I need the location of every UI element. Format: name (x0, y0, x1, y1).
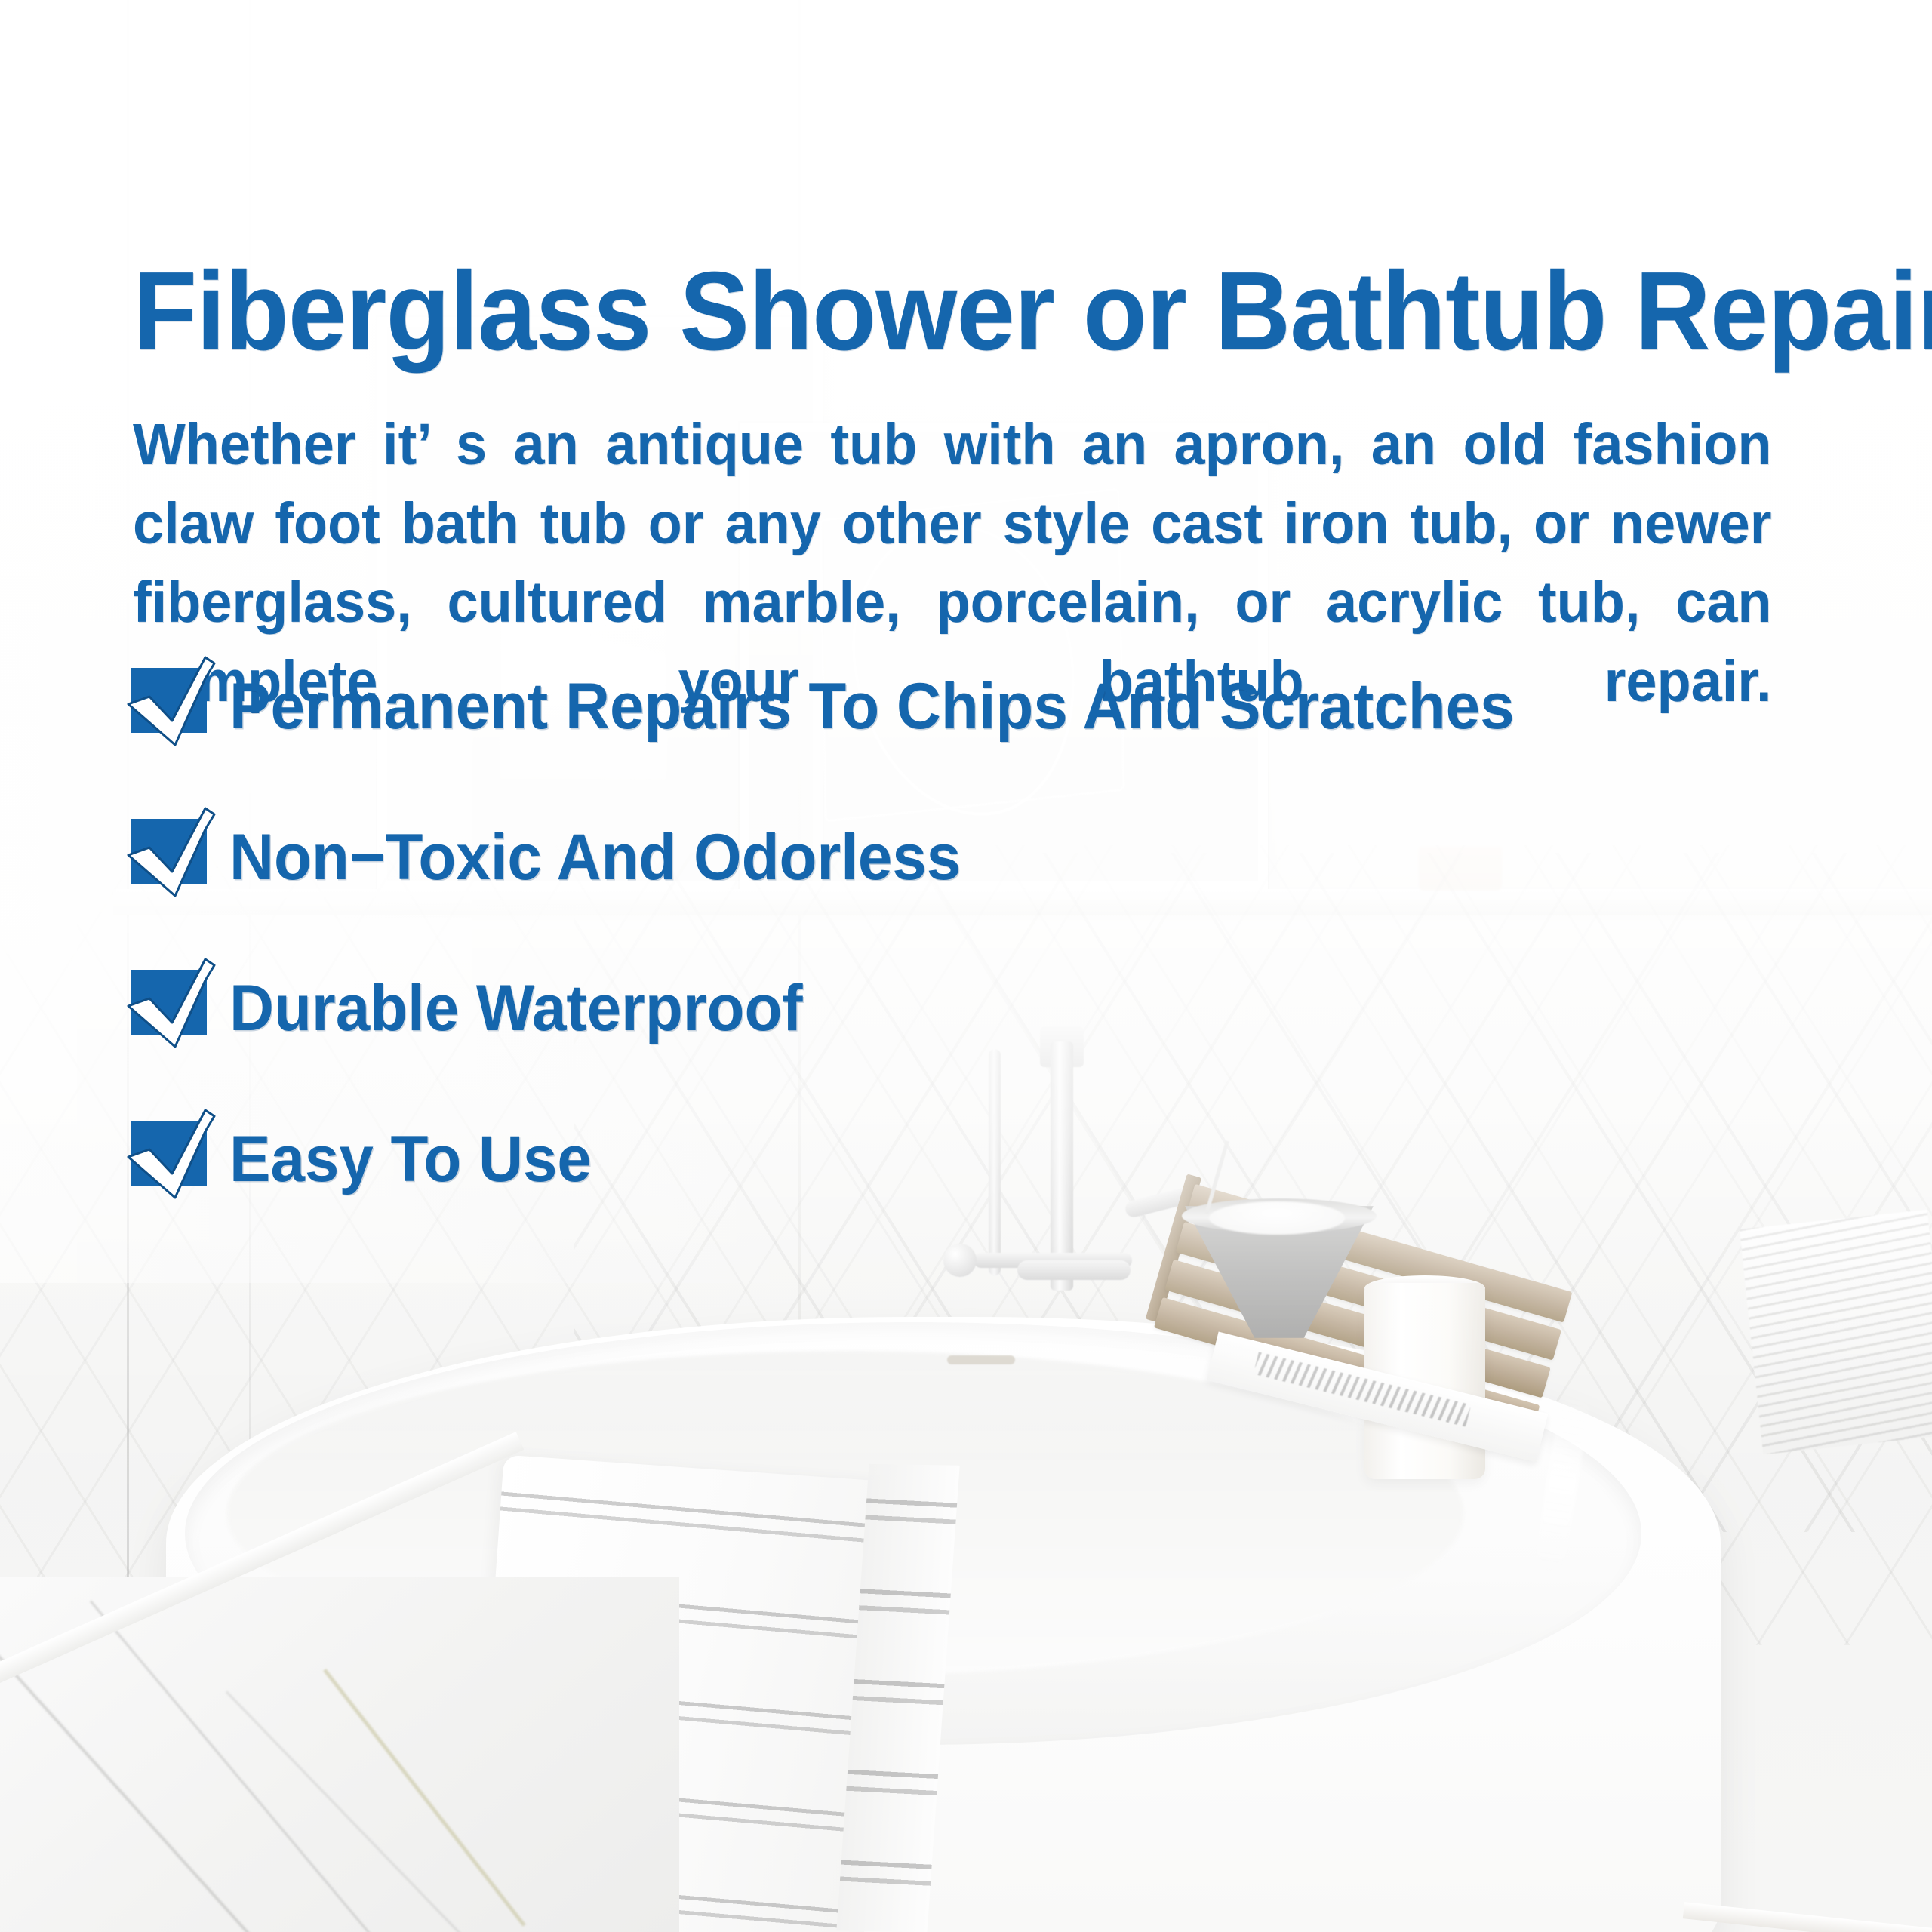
feature-list: Permanent Repairs To Chips And Scratches… (127, 631, 1787, 1235)
check-square-icon (127, 964, 216, 1053)
check-square-icon (127, 662, 216, 751)
check-square-icon (127, 813, 216, 902)
content-layer: Fiberglass Shower or Bathtub Repair Whet… (0, 0, 1932, 1932)
feature-item: Non−Toxic And Odorless (127, 782, 1787, 933)
feature-item: Permanent Repairs To Chips And Scratches (127, 631, 1787, 782)
feature-item: Durable Waterproof (127, 933, 1787, 1084)
feature-label: Durable Waterproof (229, 976, 803, 1041)
feature-label: Permanent Repairs To Chips And Scratches (229, 674, 1515, 739)
feature-label: Non−Toxic And Odorless (229, 825, 961, 890)
feature-label: Easy To Use (229, 1127, 592, 1192)
feature-item: Easy To Use (127, 1084, 1787, 1235)
product-infographic: Fiberglass Shower or Bathtub Repair Whet… (0, 0, 1932, 1932)
check-square-icon (127, 1115, 216, 1204)
page-title: Fiberglass Shower or Bathtub Repair (133, 253, 1764, 370)
